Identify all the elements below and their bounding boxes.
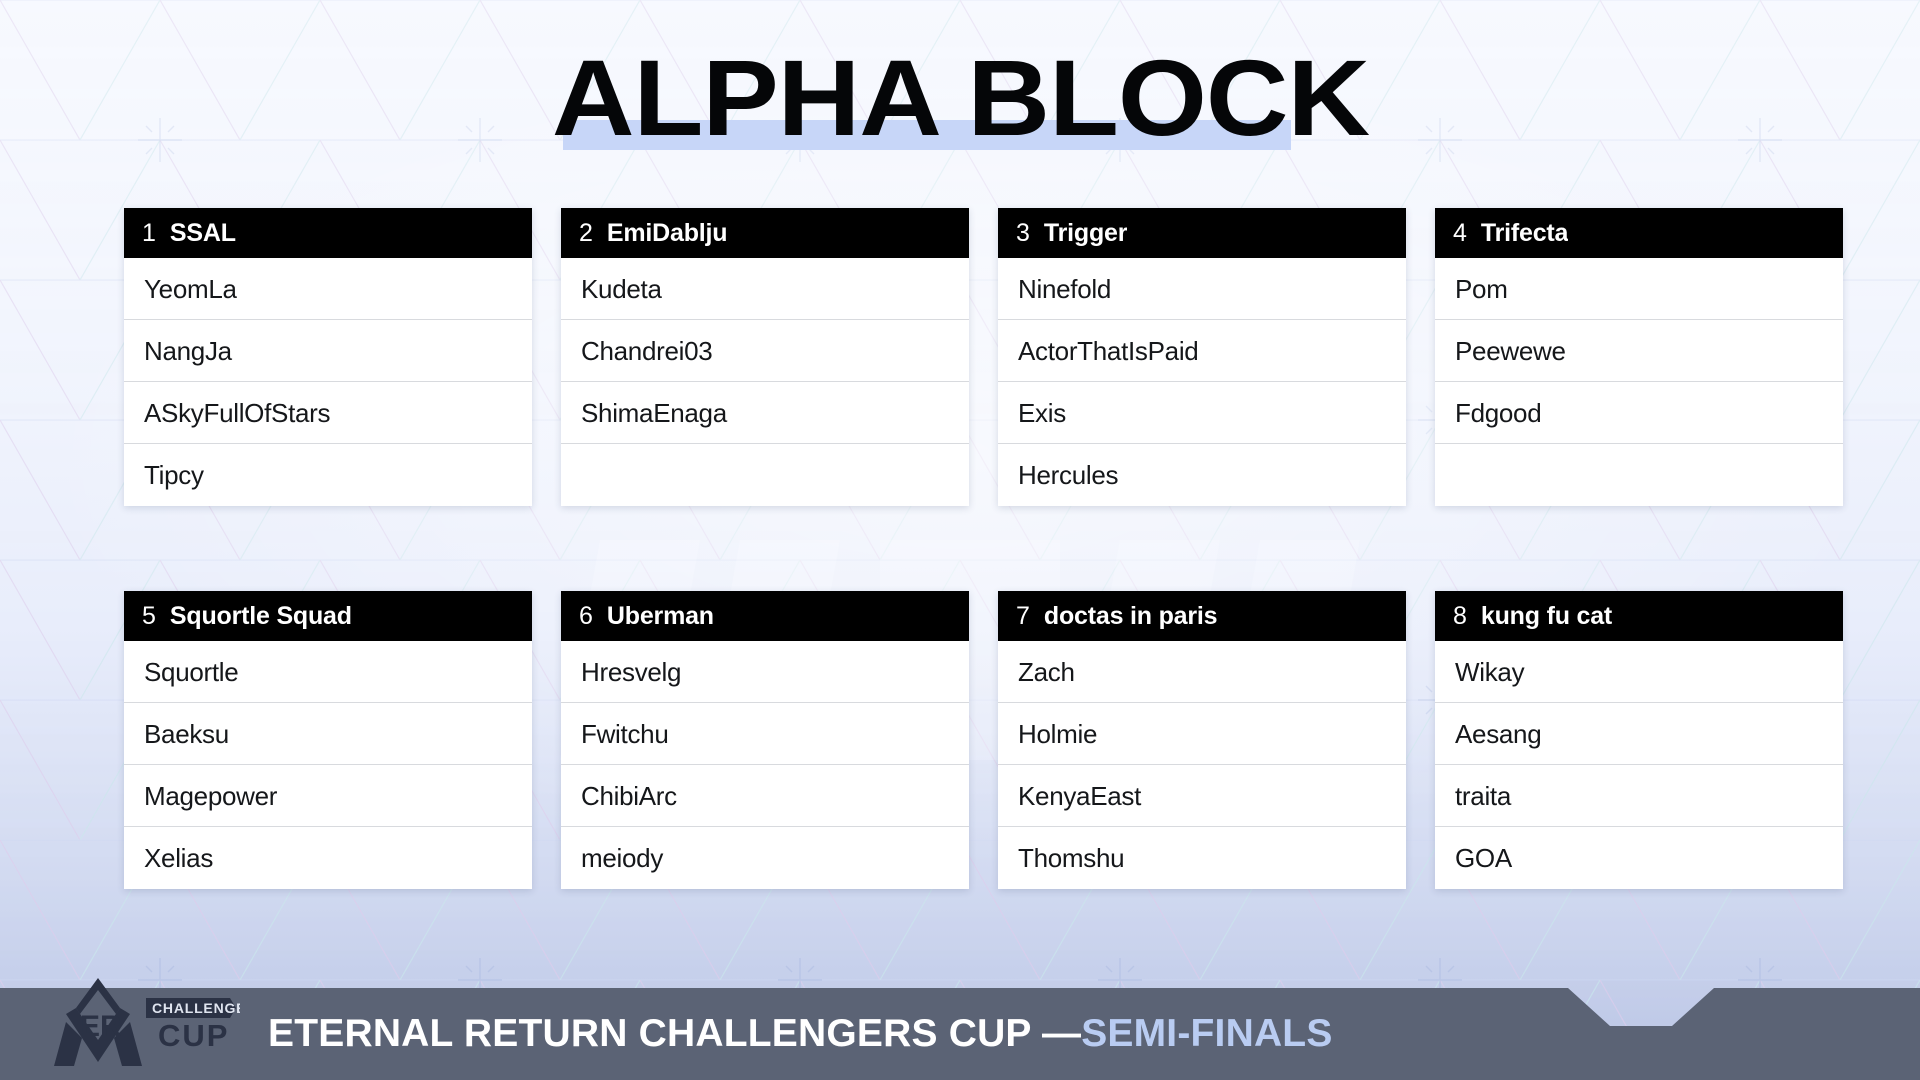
player-name: Fdgood (1455, 400, 1541, 426)
player-name: Thomshu (1018, 845, 1124, 871)
challengers-cup-wordmark: CHALLENGERS CUP (146, 998, 240, 1053)
team-roster: YeomLa NangJa ASkyFullOfStars Tipcy (124, 258, 532, 506)
team-card-grid: 1 SSAL YeomLa NangJa ASkyFullOfStars Tip… (124, 208, 1824, 889)
team-name: Trifecta (1481, 221, 1568, 246)
player-row[interactable]: ActorThatIsPaid (998, 320, 1406, 382)
player-row[interactable]: Holmie (998, 703, 1406, 765)
team-card-header: 2 EmiDablju (561, 208, 969, 258)
player-row[interactable]: Baeksu (124, 703, 532, 765)
player-row[interactable]: Fwitchu (561, 703, 969, 765)
team-card-header: 7 doctas in paris (998, 591, 1406, 641)
team-name: Squortle Squad (170, 604, 352, 629)
slide-root: ALPHA BLOCK 1 SSAL YeomLa NangJa ASkyFul… (0, 0, 1920, 1080)
player-name: Holmie (1018, 721, 1097, 747)
team-roster: Ninefold ActorThatIsPaid Exis Hercules (998, 258, 1406, 506)
team-card[interactable]: 1 SSAL YeomLa NangJa ASkyFullOfStars Tip… (124, 208, 532, 506)
er-emblem-icon: ER (54, 978, 142, 1066)
player-row[interactable]: Peewewe (1435, 320, 1843, 382)
team-card[interactable]: 4 Trifecta Pom Peewewe Fdgood (1435, 208, 1843, 506)
player-row[interactable]: meiody (561, 827, 969, 889)
player-name: Baeksu (144, 721, 229, 747)
footer-event-title: ETERNAL RETURN CHALLENGERS CUP — (268, 1012, 1081, 1056)
player-row[interactable]: ChibiArc (561, 765, 969, 827)
team-name: doctas in paris (1044, 604, 1217, 629)
team-rank: 3 (1016, 221, 1030, 246)
team-card-header: 4 Trifecta (1435, 208, 1843, 258)
player-row-empty[interactable] (561, 444, 969, 506)
team-rank: 7 (1016, 604, 1030, 629)
team-name: kung fu cat (1481, 604, 1612, 629)
team-rank: 8 (1453, 604, 1467, 629)
team-card-header: 8 kung fu cat (1435, 591, 1843, 641)
player-name: Magepower (144, 783, 277, 809)
player-row[interactable]: Xelias (124, 827, 532, 889)
team-card[interactable]: 6 Uberman Hresvelg Fwitchu ChibiArc meio… (561, 591, 969, 889)
player-row[interactable]: Chandrei03 (561, 320, 969, 382)
player-row[interactable]: Squortle (124, 641, 532, 703)
player-row[interactable]: Hercules (998, 444, 1406, 506)
player-name: Zach (1018, 659, 1075, 685)
player-row[interactable]: ShimaEnaga (561, 382, 969, 444)
team-rank: 5 (142, 604, 156, 629)
player-name: GOA (1455, 845, 1512, 871)
team-roster: Zach Holmie KenyaEast Thomshu (998, 641, 1406, 889)
svg-text:CHALLENGERS: CHALLENGERS (152, 1000, 240, 1016)
team-roster: Wikay Aesang traita GOA (1435, 641, 1843, 889)
team-card[interactable]: 3 Trigger Ninefold ActorThatIsPaid Exis … (998, 208, 1406, 506)
team-card[interactable]: 7 doctas in paris Zach Holmie KenyaEast … (998, 591, 1406, 889)
team-rank: 4 (1453, 221, 1467, 246)
team-card-header: 1 SSAL (124, 208, 532, 258)
player-row-empty[interactable] (1435, 444, 1843, 506)
player-row[interactable]: Magepower (124, 765, 532, 827)
team-rank: 1 (142, 221, 156, 246)
player-row[interactable]: Zach (998, 641, 1406, 703)
player-name: Wikay (1455, 659, 1524, 685)
player-name: traita (1455, 783, 1511, 809)
team-card[interactable]: 2 EmiDablju Kudeta Chandrei03 ShimaEnaga (561, 208, 969, 506)
player-row[interactable]: Ninefold (998, 258, 1406, 320)
player-name: KenyaEast (1018, 783, 1141, 809)
team-roster: Kudeta Chandrei03 ShimaEnaga (561, 258, 969, 506)
team-roster: Pom Peewewe Fdgood (1435, 258, 1843, 506)
player-row[interactable]: Thomshu (998, 827, 1406, 889)
player-row[interactable]: traita (1435, 765, 1843, 827)
page-title: ALPHA BLOCK (551, 38, 1368, 159)
player-name: meiody (581, 845, 663, 871)
page-title-area: ALPHA BLOCK (0, 28, 1920, 168)
team-card-header: 6 Uberman (561, 591, 969, 641)
team-card-header: 5 Squortle Squad (124, 591, 532, 641)
team-name: Trigger (1044, 221, 1127, 246)
team-rank: 2 (579, 221, 593, 246)
player-row[interactable]: Aesang (1435, 703, 1843, 765)
team-card[interactable]: 8 kung fu cat Wikay Aesang traita GOA (1435, 591, 1843, 889)
team-roster: Squortle Baeksu Magepower Xelias (124, 641, 532, 889)
player-name: ASkyFullOfStars (144, 400, 330, 426)
svg-text:CUP: CUP (158, 1018, 229, 1053)
player-name: Kudeta (581, 276, 662, 302)
footer-stage-label: SEMI-FINALS (1081, 1012, 1332, 1056)
player-row[interactable]: Wikay (1435, 641, 1843, 703)
player-row[interactable]: Exis (998, 382, 1406, 444)
player-name: Chandrei03 (581, 338, 712, 364)
svg-text:ER: ER (80, 1010, 122, 1043)
team-name: EmiDablju (607, 221, 727, 246)
player-name: Tipcy (144, 462, 204, 488)
player-row[interactable]: ASkyFullOfStars (124, 382, 532, 444)
player-row[interactable]: NangJa (124, 320, 532, 382)
player-name: Pom (1455, 276, 1508, 302)
player-name: ActorThatIsPaid (1018, 338, 1198, 364)
eternal-return-challengers-cup-logo: ER CHALLENGERS CUP (40, 970, 240, 1074)
player-name: Fwitchu (581, 721, 668, 747)
player-row[interactable]: Hresvelg (561, 641, 969, 703)
player-name: Hresvelg (581, 659, 681, 685)
team-card[interactable]: 5 Squortle Squad Squortle Baeksu Magepow… (124, 591, 532, 889)
player-name: ShimaEnaga (581, 400, 727, 426)
page-title-inner: ALPHA BLOCK (575, 38, 1346, 159)
player-name: ChibiArc (581, 783, 677, 809)
player-name: YeomLa (144, 276, 237, 302)
player-row[interactable]: Pom (1435, 258, 1843, 320)
player-row[interactable]: GOA (1435, 827, 1843, 889)
player-name: Squortle (144, 659, 238, 685)
player-name: Exis (1018, 400, 1066, 426)
player-name: Aesang (1455, 721, 1541, 747)
player-name: NangJa (144, 338, 232, 364)
footer-title-group: ETERNAL RETURN CHALLENGERS CUP — SEMI-FI… (268, 988, 1333, 1080)
team-name: Uberman (607, 604, 714, 629)
team-card-header: 3 Trigger (998, 208, 1406, 258)
player-name: Hercules (1018, 462, 1118, 488)
player-row[interactable]: Tipcy (124, 444, 532, 506)
player-row[interactable]: Fdgood (1435, 382, 1843, 444)
player-name: Xelias (144, 845, 213, 871)
player-row[interactable]: YeomLa (124, 258, 532, 320)
player-name: Ninefold (1018, 276, 1111, 302)
team-name: SSAL (170, 221, 236, 246)
team-rank: 6 (579, 604, 593, 629)
player-name: Peewewe (1455, 338, 1566, 364)
player-row[interactable]: Kudeta (561, 258, 969, 320)
player-row[interactable]: KenyaEast (998, 765, 1406, 827)
team-roster: Hresvelg Fwitchu ChibiArc meiody (561, 641, 969, 889)
